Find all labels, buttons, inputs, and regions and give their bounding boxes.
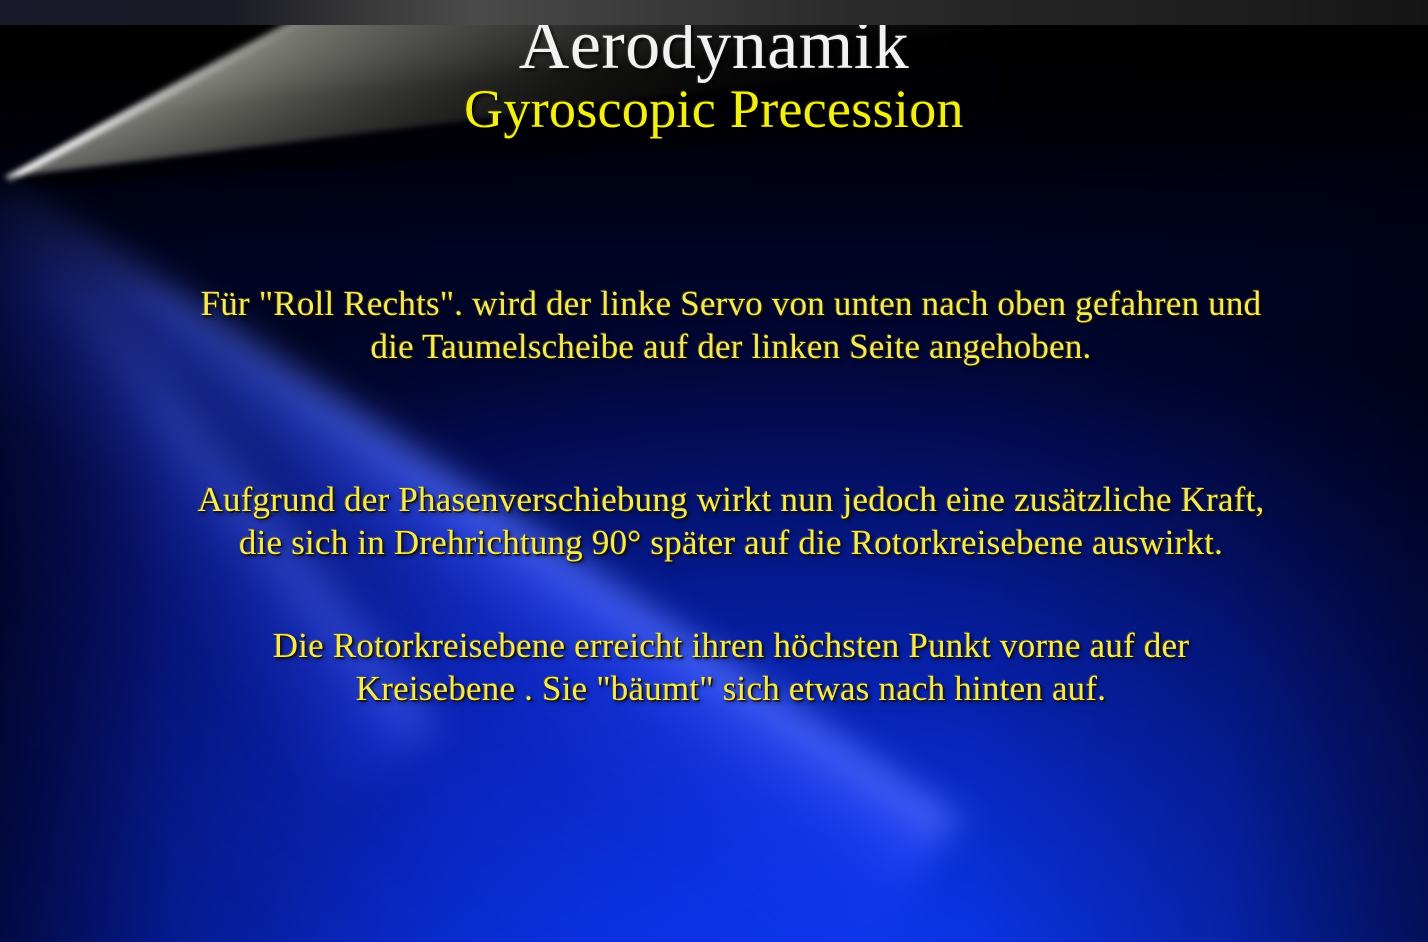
body-paragraph-2: Aufgrund der Phasenverschiebung wirkt nu… [196, 478, 1266, 564]
body-paragraph-1: Für "Roll Rechts". wird der linke Servo … [196, 282, 1266, 368]
body-paragraph-3: Die Rotorkreisebene erreicht ihren höchs… [196, 624, 1266, 710]
paragraph-spacer-2 [196, 564, 1266, 624]
presentation-slide: Aerodynamik Gyroscopic Precession Für "R… [0, 0, 1428, 942]
slide-title-block: Aerodynamik Gyroscopic Precession [0, 8, 1428, 138]
slide-subtitle: Gyroscopic Precession [0, 80, 1428, 138]
slide-title: Aerodynamik [0, 8, 1428, 84]
slide-content: Aerodynamik Gyroscopic Precession Für "R… [0, 0, 1428, 942]
paragraph-spacer-1 [196, 368, 1266, 478]
slide-body-block: Für "Roll Rechts". wird der linke Servo … [196, 282, 1266, 710]
